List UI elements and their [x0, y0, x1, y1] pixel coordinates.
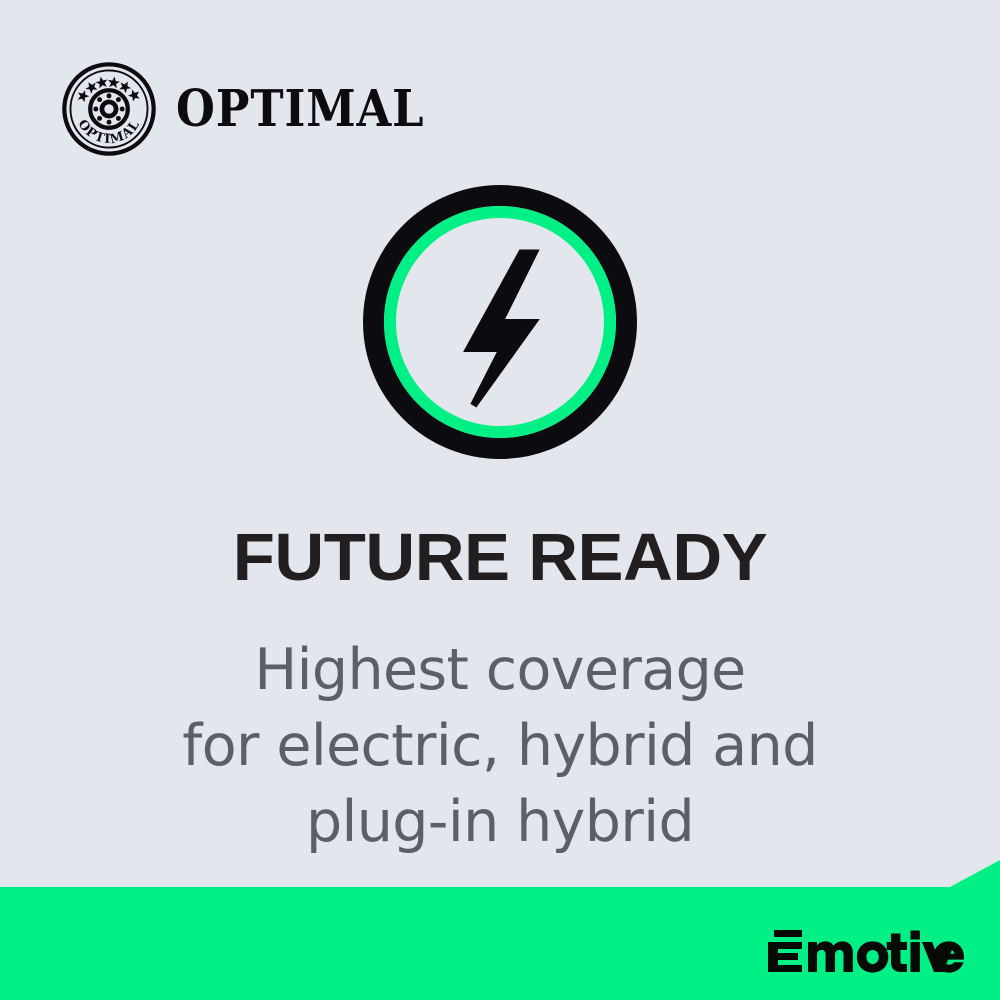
- subcopy-line-3: plug-in hybrid: [0, 784, 1000, 860]
- brand-lockup: OPTIMAL OPTIMAL: [62, 62, 443, 156]
- optimal-seal-icon: OPTIMAL: [62, 62, 156, 156]
- emotive-logo: [768, 928, 964, 974]
- page-title: FUTURE READY: [0, 524, 1000, 591]
- subcopy: Highest coverage for electric, hybrid an…: [0, 632, 1000, 860]
- optimal-wordmark: OPTIMAL: [176, 84, 424, 135]
- promo-card: OPTIMAL OPTIMAL: [0, 0, 1000, 1000]
- subcopy-line-1: Highest coverage: [0, 632, 1000, 708]
- subcopy-line-2: for electric, hybrid and: [0, 708, 1000, 784]
- lightning-bolt-in-circle-icon: [363, 185, 637, 459]
